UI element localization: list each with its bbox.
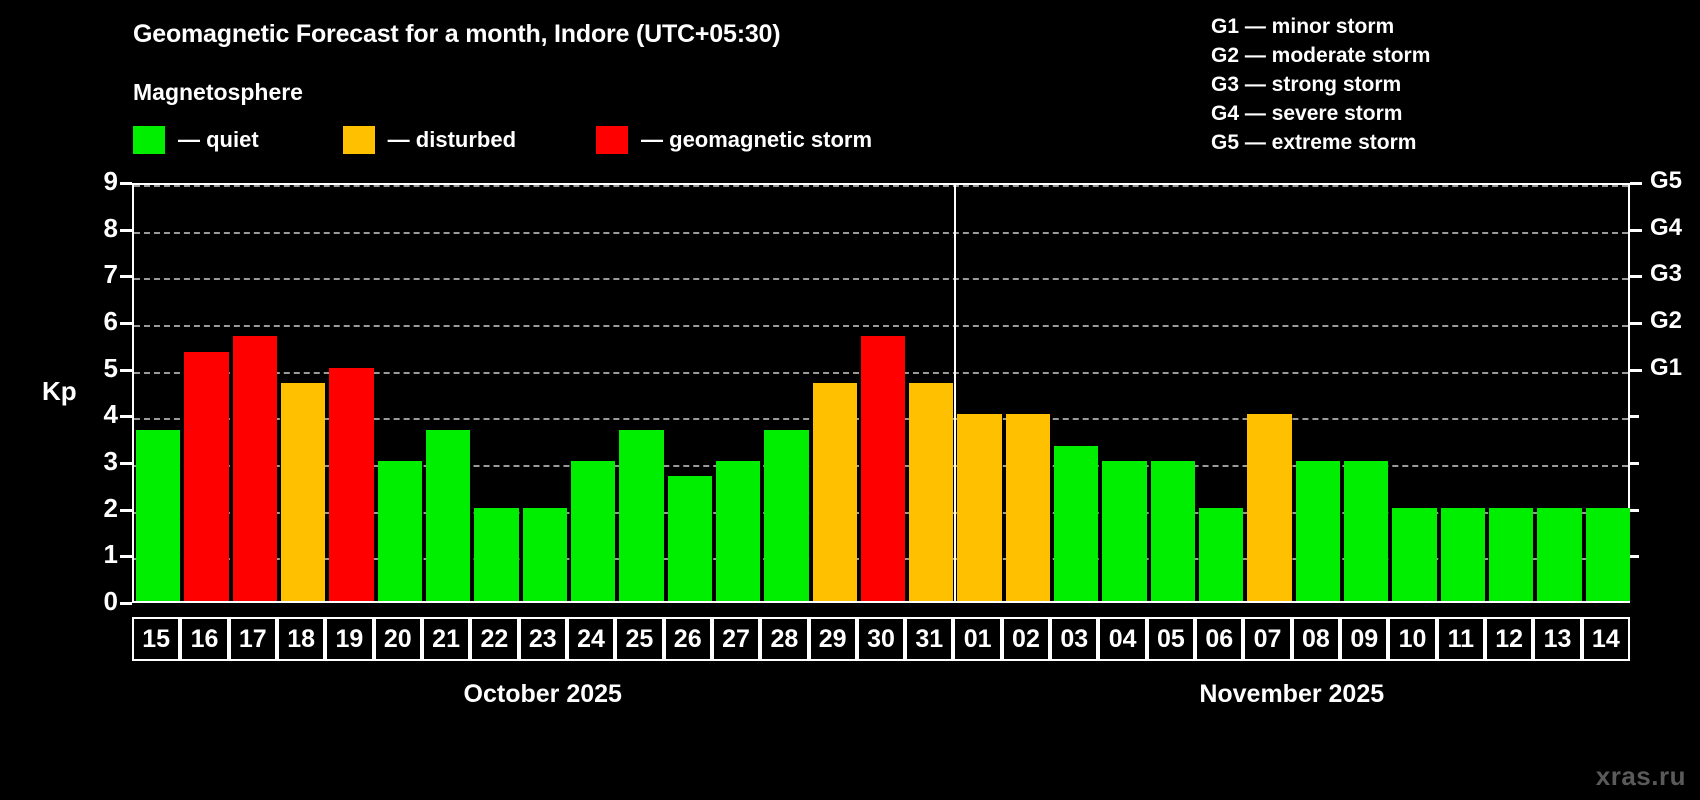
day-label-27[interactable]: 27 (712, 617, 760, 661)
bar-day-23[interactable] (523, 508, 567, 601)
g-scale-line-g2: G2 — moderate storm (1211, 41, 1430, 70)
day-label-10[interactable]: 10 (1388, 617, 1436, 661)
legend-swatch-disturbed-icon (343, 126, 375, 154)
bar-day-27[interactable] (716, 461, 760, 601)
bar-day-07[interactable] (1247, 414, 1291, 601)
day-label-18[interactable]: 18 (277, 617, 325, 661)
bar-day-24[interactable] (571, 461, 615, 601)
g-tick-label-G3: G3 (1650, 260, 1682, 288)
legend-swatch-quiet-icon (133, 126, 165, 154)
bar-day-01[interactable] (957, 414, 1001, 601)
y-tick-label-3: 3 (104, 446, 118, 477)
bar-day-31[interactable] (909, 383, 953, 601)
y-tick-9 (120, 182, 132, 185)
g-tick-minor-1 (1630, 555, 1639, 558)
day-label-31[interactable]: 31 (905, 617, 953, 661)
g-tick-G4 (1630, 229, 1642, 232)
month-caption-october: October 2025 (464, 680, 622, 709)
day-label-29[interactable]: 29 (809, 617, 857, 661)
day-label-02[interactable]: 02 (1002, 617, 1050, 661)
bar-series (134, 185, 1628, 601)
legend-label-quiet: — quiet (178, 127, 259, 153)
day-label-25[interactable]: 25 (615, 617, 663, 661)
g-tick-minor-2 (1630, 509, 1639, 512)
g-tick-label-G5: G5 (1650, 167, 1682, 195)
y-tick-label-8: 8 (104, 213, 118, 244)
magnetosphere-label: Magnetosphere (133, 79, 303, 106)
g-tick-G1 (1630, 369, 1642, 372)
y-tick-label-9: 9 (104, 166, 118, 197)
g-scale-line-g1: G1 — minor storm (1211, 12, 1430, 41)
day-label-23[interactable]: 23 (519, 617, 567, 661)
day-label-08[interactable]: 08 (1292, 617, 1340, 661)
legend-label-disturbed: — disturbed (388, 127, 516, 153)
y-tick-label-2: 2 (104, 493, 118, 524)
g-tick-G5 (1630, 182, 1642, 185)
y-tick-label-0: 0 (104, 586, 118, 617)
day-label-26[interactable]: 26 (664, 617, 712, 661)
legend: — quiet — disturbed — geomagnetic storm (133, 125, 872, 155)
y-tick-0 (120, 602, 132, 605)
day-label-09[interactable]: 09 (1340, 617, 1388, 661)
g-tick-label-G1: G1 (1650, 354, 1682, 382)
g-tick-label-G2: G2 (1650, 307, 1682, 335)
bar-day-11[interactable] (1441, 508, 1485, 601)
legend-label-storm: — geomagnetic storm (641, 127, 872, 153)
y-tick-label-5: 5 (104, 353, 118, 384)
watermark: xras.ru (1596, 761, 1686, 792)
bar-day-22[interactable] (474, 508, 518, 601)
day-label-12[interactable]: 12 (1485, 617, 1533, 661)
y-tick-label-1: 1 (104, 539, 118, 570)
g-scale-line-g5: G5 — extreme storm (1211, 128, 1430, 157)
day-label-13[interactable]: 13 (1533, 617, 1581, 661)
bar-day-25[interactable] (619, 430, 663, 601)
day-label-28[interactable]: 28 (760, 617, 808, 661)
day-label-07[interactable]: 07 (1243, 617, 1291, 661)
legend-item-storm: — geomagnetic storm (596, 126, 872, 154)
y-tick-label-6: 6 (104, 306, 118, 337)
y-tick-6 (120, 322, 132, 325)
plot-area (132, 183, 1630, 603)
bar-day-05[interactable] (1151, 461, 1195, 601)
bar-day-08[interactable] (1296, 461, 1340, 601)
bar-day-28[interactable] (764, 430, 808, 601)
day-label-04[interactable]: 04 (1098, 617, 1146, 661)
day-label-14[interactable]: 14 (1582, 617, 1630, 661)
bar-day-13[interactable] (1537, 508, 1581, 601)
bar-day-04[interactable] (1102, 461, 1146, 601)
y-tick-label-4: 4 (104, 399, 118, 430)
bar-day-14[interactable] (1586, 508, 1630, 601)
g-scale-line-g3: G3 — strong storm (1211, 70, 1430, 99)
g-scale-line-g4: G4 — severe storm (1211, 99, 1430, 128)
legend-swatch-storm-icon (596, 126, 628, 154)
bar-day-19[interactable] (329, 368, 373, 601)
legend-item-quiet: — quiet (133, 126, 259, 154)
bar-day-16[interactable] (184, 352, 228, 601)
day-label-01[interactable]: 01 (953, 617, 1001, 661)
day-label-21[interactable]: 21 (422, 617, 470, 661)
bar-day-21[interactable] (426, 430, 470, 601)
y-axis-title: Kp (42, 376, 77, 407)
bar-day-06[interactable] (1199, 508, 1243, 601)
y-tick-8 (120, 229, 132, 232)
day-label-17[interactable]: 17 (229, 617, 277, 661)
day-label-30[interactable]: 30 (857, 617, 905, 661)
day-label-05[interactable]: 05 (1147, 617, 1195, 661)
g-tick-minor-3 (1630, 462, 1639, 465)
page-title: Geomagnetic Forecast for a month, Indore… (133, 20, 780, 49)
y-tick-1 (120, 555, 132, 558)
g-scale-legend: G1 — minor storm G2 — moderate storm G3 … (1211, 12, 1430, 157)
g-tick-minor-4 (1630, 415, 1639, 418)
legend-item-disturbed: — disturbed (343, 126, 516, 154)
bar-day-10[interactable] (1392, 508, 1436, 601)
y-tick-label-7: 7 (104, 259, 118, 290)
bar-day-03[interactable] (1054, 446, 1098, 601)
geomagnetic-forecast-chart: Geomagnetic Forecast for a month, Indore… (0, 0, 1700, 800)
day-label-11[interactable]: 11 (1437, 617, 1485, 661)
y-tick-2 (120, 509, 132, 512)
bar-day-15[interactable] (136, 430, 180, 601)
day-label-03[interactable]: 03 (1050, 617, 1098, 661)
day-label-24[interactable]: 24 (567, 617, 615, 661)
g-tick-label-G4: G4 (1650, 214, 1682, 242)
y-tick-4 (120, 415, 132, 418)
x-axis-day-labels: 1516171819202122232425262728293031010203… (132, 617, 1630, 661)
bar-day-30[interactable] (861, 336, 905, 601)
y-tick-7 (120, 275, 132, 278)
g-tick-G3 (1630, 275, 1642, 278)
bar-day-02[interactable] (1006, 414, 1050, 601)
g-tick-G2 (1630, 322, 1642, 325)
bar-day-20[interactable] (378, 461, 422, 601)
day-label-06[interactable]: 06 (1195, 617, 1243, 661)
bar-day-29[interactable] (813, 383, 857, 601)
y-tick-5 (120, 369, 132, 372)
day-label-19[interactable]: 19 (325, 617, 373, 661)
bar-day-09[interactable] (1344, 461, 1388, 601)
y-tick-3 (120, 462, 132, 465)
day-label-20[interactable]: 20 (374, 617, 422, 661)
month-caption-november: November 2025 (1199, 680, 1384, 709)
bar-day-17[interactable] (233, 336, 277, 601)
day-label-16[interactable]: 16 (180, 617, 228, 661)
bar-day-12[interactable] (1489, 508, 1533, 601)
bar-day-18[interactable] (281, 383, 325, 601)
day-label-22[interactable]: 22 (470, 617, 518, 661)
month-boundary-line (954, 183, 956, 603)
bar-day-26[interactable] (668, 476, 712, 601)
day-label-15[interactable]: 15 (132, 617, 180, 661)
